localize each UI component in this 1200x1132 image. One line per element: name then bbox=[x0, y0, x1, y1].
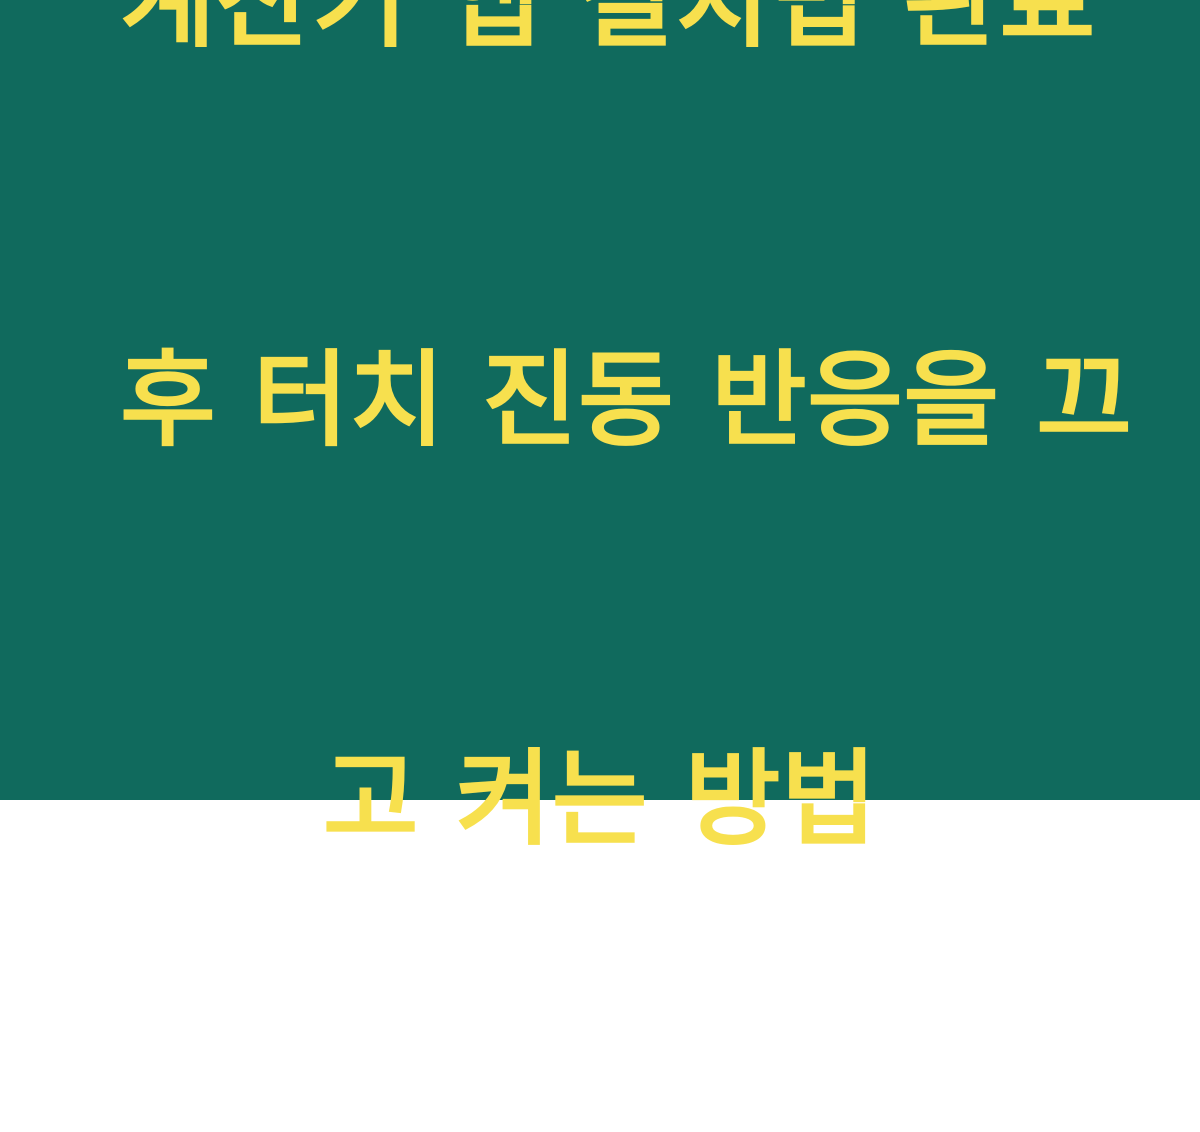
headline-line-3: 고 켜는 방법 bbox=[120, 733, 1080, 866]
banner-background: 계산기 앱 설치법 완료 후 터치 진동 반응을 끄 고 켜는 방법 bbox=[0, 0, 1200, 800]
headline-line-2: 후 터치 진동 반응을 끄 bbox=[120, 334, 1080, 467]
banner-headline: 계산기 앱 설치법 완료 후 터치 진동 반응을 끄 고 켜는 방법 bbox=[120, 0, 1080, 1132]
headline-line-1: 계산기 앱 설치법 완료 bbox=[120, 0, 1080, 68]
